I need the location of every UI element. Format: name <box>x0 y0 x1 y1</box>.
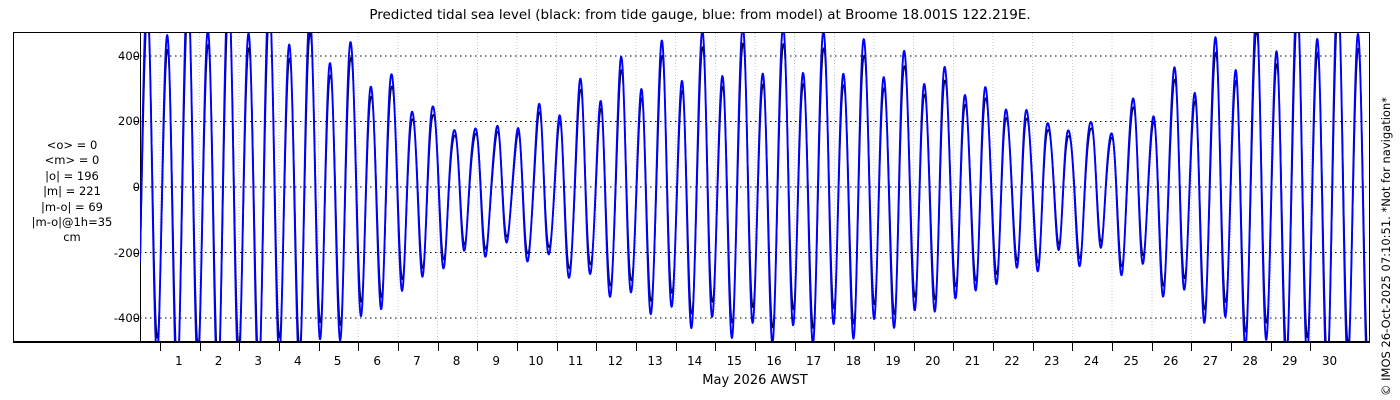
x-tick-label: 6 <box>357 354 397 368</box>
x-tick-label: 20 <box>913 354 953 368</box>
x-tick-label: 15 <box>714 354 754 368</box>
x-tick-mark <box>1033 342 1034 351</box>
x-axis-title: May 2026 AWST <box>140 372 1370 390</box>
x-tick-mark <box>200 342 201 351</box>
x-tick-mark <box>438 342 439 351</box>
x-tick-mark <box>1152 342 1153 351</box>
x-tick-label: 29 <box>1270 354 1310 368</box>
x-tick-label: 14 <box>675 354 715 368</box>
x-tick-mark <box>676 342 677 351</box>
x-tick-label: 22 <box>992 354 1032 368</box>
x-tick-mark <box>239 342 240 351</box>
x-tick-mark <box>715 342 716 351</box>
x-tick-mark <box>1231 342 1232 351</box>
x-tick-mark <box>953 342 954 351</box>
x-tick-label: 23 <box>1032 354 1072 368</box>
x-tick-label: 26 <box>1151 354 1191 368</box>
x-tick-mark <box>477 342 478 351</box>
x-tick-label: 5 <box>318 354 358 368</box>
y-tick-mark <box>134 56 139 57</box>
x-tick-mark <box>834 342 835 351</box>
x-tick-mark <box>993 342 994 351</box>
x-tick-label: 21 <box>952 354 992 368</box>
x-axis-ticks: 1234567891011121314151617181920212223242… <box>140 342 1370 374</box>
x-tick-label: 12 <box>595 354 635 368</box>
x-tick-mark <box>279 342 280 351</box>
x-tick-label: 27 <box>1190 354 1230 368</box>
tide-chart-figure: Predicted tidal sea level (black: from t… <box>0 0 1400 400</box>
x-tick-mark <box>398 342 399 351</box>
x-tick-label: 24 <box>1071 354 1111 368</box>
y-tick-mark <box>134 187 139 188</box>
x-tick-label: 28 <box>1230 354 1270 368</box>
x-tick-mark <box>1112 342 1113 351</box>
y-tick-mark <box>134 318 139 319</box>
x-tick-label: 18 <box>833 354 873 368</box>
x-tick-label: 25 <box>1111 354 1151 368</box>
copyright-credit: © IMOS 26-Oct-2025 07:10:51. *Not for na… <box>1377 0 1395 396</box>
x-tick-label: 17 <box>794 354 834 368</box>
plot-area <box>140 33 1370 341</box>
x-tick-mark <box>1310 342 1311 351</box>
tide-timeseries-svg <box>140 33 1370 341</box>
x-tick-mark <box>596 342 597 351</box>
x-tick-mark <box>1271 342 1272 351</box>
x-tick-label: 11 <box>556 354 596 368</box>
x-tick-label: 10 <box>516 354 556 368</box>
x-tick-mark <box>319 342 320 351</box>
x-tick-mark <box>517 342 518 351</box>
x-tick-label: 8 <box>437 354 477 368</box>
x-tick-label: 1 <box>159 354 199 368</box>
x-tick-label: 7 <box>397 354 437 368</box>
x-tick-label: 16 <box>754 354 794 368</box>
x-tick-mark <box>914 342 915 351</box>
x-tick-mark <box>1191 342 1192 351</box>
y-tick-mark <box>134 121 139 122</box>
x-tick-label: 9 <box>476 354 516 368</box>
x-tick-label: 13 <box>635 354 675 368</box>
x-tick-label: 19 <box>873 354 913 368</box>
x-tick-mark <box>795 342 796 351</box>
x-tick-mark <box>557 342 558 351</box>
x-tick-label: 4 <box>278 354 318 368</box>
x-tick-mark <box>874 342 875 351</box>
page-title: Predicted tidal sea level (black: from t… <box>0 6 1400 24</box>
x-tick-label: 2 <box>199 354 239 368</box>
x-tick-label: 30 <box>1309 354 1349 368</box>
x-tick-mark <box>636 342 637 351</box>
y-axis: 4002000-200-400 <box>88 33 140 341</box>
x-tick-label: 3 <box>238 354 278 368</box>
x-tick-mark <box>160 342 161 351</box>
x-tick-mark <box>1072 342 1073 351</box>
y-tick-mark <box>134 253 139 254</box>
x-tick-mark <box>358 342 359 351</box>
x-tick-mark <box>755 342 756 351</box>
